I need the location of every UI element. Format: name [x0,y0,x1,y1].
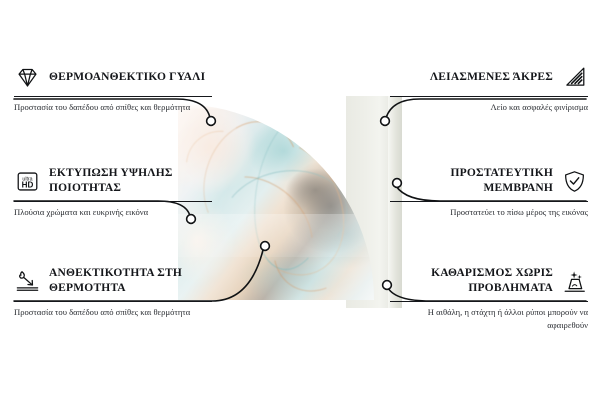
feature-header: ΚΑΘΑΡΙΣΜΟΣ ΧΩΡΙΣ ΠΡΟΒΛΗΜΑΤΑ [390,266,588,296]
feature-heat-resistance[interactable]: ΑΝΘΕΚΤΙΚΟΤΗΤΑ ΣΤΗ ΘΕΡΜΟΤΗΤΑ Προστασία το… [14,266,212,319]
feature-title: ΠΡΟΣΤΑΤΕΥΤΙΚΗ ΜΕΜΒΡΑΝΗ [390,166,553,196]
polished-edges-icon [561,64,588,91]
feature-title: ΛΕΙΑΣΜΕΝΕΣ ΆΚΡΕΣ [430,70,553,85]
feature-subtitle: Πλούσια χρώματα και ευκρινής εικόνα [14,206,212,218]
feature-subtitle: Λείο και ασφαλές φινίρισμα [390,101,588,113]
feature-header: ultra HD ΕΚΤΥΠΩΣΗ ΥΨΗΛΗΣ ΠΟΙΟΤΗΤΑΣ [14,166,212,196]
feature-divider [390,301,588,302]
feature-subtitle: Προστασία του δαπέδου από σπίθες και θερ… [14,101,212,113]
feature-title: ΑΝΘΕΚΤΙΚΟΤΗΤΑ ΣΤΗ ΘΕΡΜΟΤΗΤΑ [49,266,212,296]
diamond-icon [14,64,41,91]
feature-header: ΘΕΡΜΟΑΝΘΕΚΤΙΚΟ ΓΥΑΛΙ [14,64,212,91]
feature-header: ΛΕΙΑΣΜΕΝΕΣ ΆΚΡΕΣ [390,64,588,91]
heat-resistant-icon [14,268,41,295]
feature-header: ΠΡΟΣΤΑΤΕΥΤΙΚΗ ΜΕΜΒΡΑΝΗ [390,166,588,196]
easy-clean-icon [561,268,588,295]
feature-high-quality-print[interactable]: ultra HD ΕΚΤΥΠΩΣΗ ΥΨΗΛΗΣ ΠΟΙΟΤΗΤΑΣ Πλούσ… [14,166,212,219]
ultra-hd-icon: ultra HD [14,168,41,195]
feature-divider [390,201,588,202]
feature-divider [14,201,212,202]
feature-divider [390,96,588,97]
feature-polished-edges[interactable]: ΛΕΙΑΣΜΕΝΕΣ ΆΚΡΕΣ Λείο και ασφαλές φινίρι… [390,64,588,113]
infographic-canvas: ΘΕΡΜΟΑΝΘΕΚΤΙΚΟ ΓΥΑΛΙ Προστασία του δαπέδ… [0,0,600,400]
feature-title: ΕΚΤΥΠΩΣΗ ΥΨΗΛΗΣ ΠΟΙΟΤΗΤΑΣ [49,166,212,196]
feature-subtitle: Προστατεύει το πίσω μέρος της εικόνας [390,206,588,218]
feature-thermo-resistant-glass[interactable]: ΘΕΡΜΟΑΝΘΕΚΤΙΚΟ ΓΥΑΛΙ Προστασία του δαπέδ… [14,64,212,113]
feature-subtitle: Προστασία του δαπέδου από σπίθες και θερ… [14,306,212,318]
feature-divider [14,301,212,302]
ultra-hd-icon-hd: HD [22,180,34,189]
feature-header: ΑΝΘΕΚΤΙΚΟΤΗΤΑ ΣΤΗ ΘΕΡΜΟΤΗΤΑ [14,266,212,296]
feature-subtitle: Η αιθάλη, η στάχτη ή άλλοι ρύποι μπορούν… [390,306,588,331]
feature-title: ΚΑΘΑΡΙΣΜΟΣ ΧΩΡΙΣ ΠΡΟΒΛΗΜΑΤΑ [390,266,553,296]
feature-divider [14,96,212,97]
feature-easy-cleaning[interactable]: ΚΑΘΑΡΙΣΜΟΣ ΧΩΡΙΣ ΠΡΟΒΛΗΜΑΤΑ Η αιθάλη, η … [390,266,588,331]
feature-protective-membrane[interactable]: ΠΡΟΣΤΑΤΕΥΤΙΚΗ ΜΕΜΒΡΑΝΗ Προστατεύει το πί… [390,166,588,219]
feature-title: ΘΕΡΜΟΑΝΘΕΚΤΙΚΟ ΓΥΑΛΙ [49,70,205,85]
shield-check-icon [561,168,588,195]
